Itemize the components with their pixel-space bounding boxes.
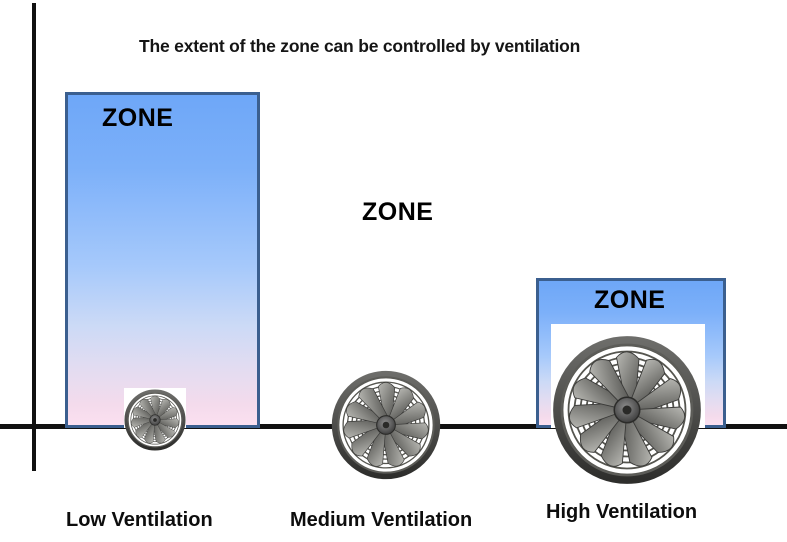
- fan-icon-low: [124, 389, 186, 451]
- category-label-medium: Medium Ventilation: [290, 509, 472, 532]
- zone-label-high: ZONE: [594, 286, 665, 315]
- zone-label-medium: ZONE: [362, 198, 433, 227]
- fan-icon-medium: [331, 369, 441, 481]
- page-title: The extent of the zone can be controlled…: [139, 36, 580, 57]
- bar-low-ventilation: [65, 92, 260, 428]
- category-label-low: Low Ventilation: [66, 509, 213, 532]
- category-label-high: High Ventilation: [546, 501, 697, 524]
- y-axis-line: [32, 3, 36, 471]
- figure-canvas: The extent of the zone can be controlled…: [0, 0, 787, 542]
- zone-label-low: ZONE: [102, 104, 173, 133]
- fan-icon-high: [552, 333, 702, 487]
